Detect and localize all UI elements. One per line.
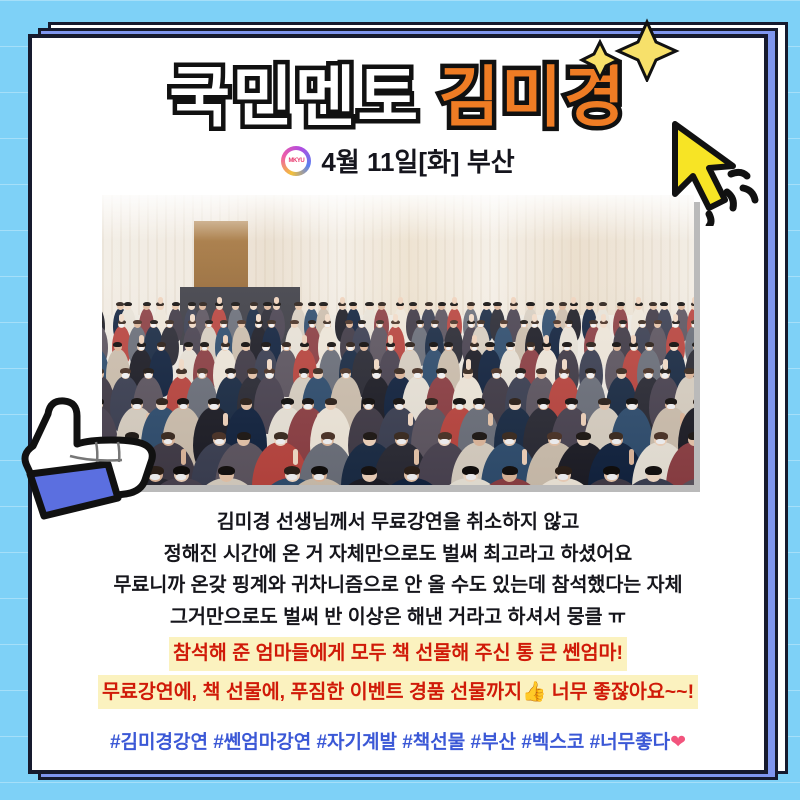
mkyu-circle-logo-icon: MKYU (281, 146, 311, 176)
brand-logo-label: MKYU (285, 150, 307, 172)
heart-icon: ❤ (670, 731, 686, 753)
body-line: 정해진 시간에 온 거 자체만으로도 벌써 최고라고 하셨어요 (50, 539, 746, 571)
lecture-audience-photo (102, 195, 694, 485)
title-name-text: 김미경 (439, 64, 627, 130)
body-line: 그거만으로도 벌써 반 이상은 해낸 거라고 하셔서 뭉클 ㅠ (50, 602, 746, 634)
page-title: 국민멘토 김미경 (32, 64, 764, 130)
highlight-line-wrap: 무료강연에, 책 선물에, 푸짐한 이벤트 경품 선물까지👍 너무 좋잖아요~~… (50, 671, 746, 710)
photo-canvas (102, 195, 694, 485)
highlight-line-text: 무료강연에, 책 선물에, 푸짐한 이벤트 경품 선물까지 (102, 681, 522, 703)
thumbs-up-icon: 👍 (522, 680, 546, 703)
hashtag-list: #김미경강연 #쎈엄마강연 #자기계발 #책선물 #부산 #벡스코 #너무좋다❤ (50, 727, 746, 754)
title-main-text: 국민멘토 (169, 64, 420, 130)
body-line: 무료니까 온갖 핑계와 귀차니즘으로 안 올 수도 있는데 참석했다는 자체 (50, 570, 746, 602)
hall-ceiling-light (102, 195, 694, 241)
body-text-block: 김미경 선생님께서 무료강연을 취소하지 않고 정해진 시간에 온 거 자체만으… (32, 507, 764, 754)
highlight-line: 무료강연에, 책 선물에, 푸짐한 이벤트 경품 선물까지👍 너무 좋잖아요~~… (98, 675, 698, 710)
highlight-line-tail: 너무 좋잖아요~~! (552, 681, 694, 703)
highlight-line: 참석해 준 엄마들에게 모두 책 선물해 주신 통 큰 쎈엄마! (169, 637, 627, 671)
body-line: 김미경 선생님께서 무료강연을 취소하지 않고 (50, 507, 746, 539)
hashtag-text: #김미경강연 #쎈엄마강연 #자기계발 #책선물 #부산 #벡스코 #너무좋다 (110, 732, 670, 753)
main-card: 국민멘토 김미경 MKYU 4월 11일[화] 부산 김미경 선생님께서 무료강… (28, 34, 768, 774)
highlight-line-wrap: 참석해 준 엄마들에게 모두 책 선물해 주신 통 큰 쎈엄마! (50, 633, 746, 671)
date-row: MKYU 4월 11일[화] 부산 (32, 142, 764, 179)
date-text: 4월 11일[화] 부산 (321, 142, 514, 179)
